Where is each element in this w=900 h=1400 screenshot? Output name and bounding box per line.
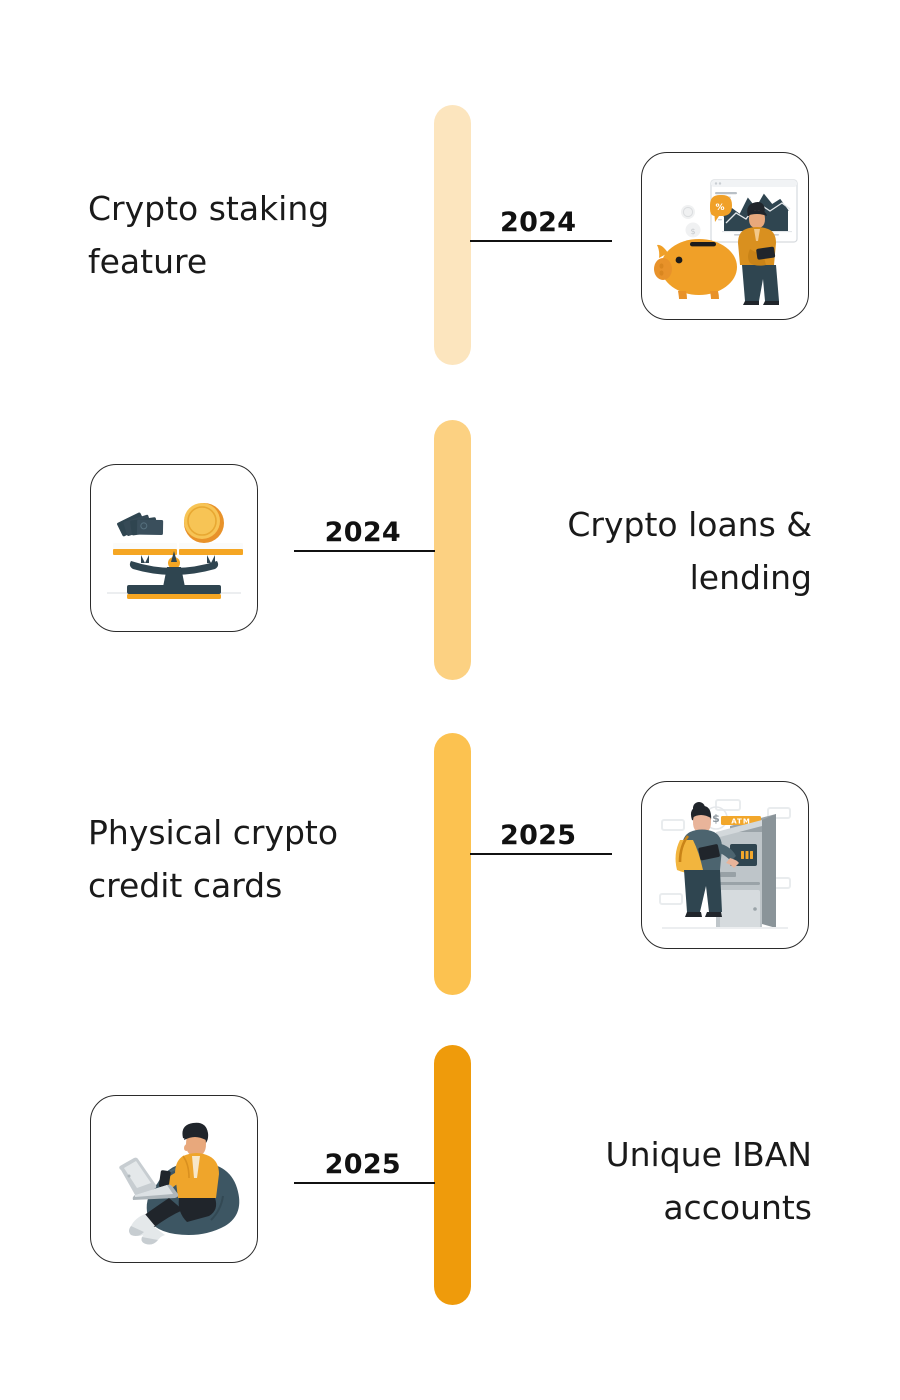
- year-label-4: 2025: [325, 1151, 401, 1178]
- year-rule-2: [294, 550, 435, 552]
- piggy-percent-glyph: %: [715, 203, 724, 213]
- year-rule-4: [294, 1182, 435, 1184]
- man-on-beanbag-with-laptop-icon: [91, 1096, 257, 1262]
- atm-dollar-glyph: $: [712, 812, 720, 825]
- balance-scale-cash-coin-icon: [91, 465, 257, 631]
- piggy-bank-investor-chart-icon: $ %: [642, 153, 808, 319]
- year-marker-3: 2025: [470, 795, 612, 855]
- milestone-caption-3: Physical crypto credit cards: [88, 806, 408, 913]
- year-marker-1: 2024: [470, 182, 612, 242]
- illustration-card-2: [90, 464, 258, 632]
- year-rule-3: [470, 853, 612, 855]
- milestone-caption-4: Unique IBAN accounts: [482, 1128, 812, 1235]
- year-label-2: 2024: [325, 519, 401, 546]
- illustration-card-1: $ %: [641, 152, 809, 320]
- year-label-1: 2024: [500, 209, 576, 236]
- timeline-bar-1: [434, 105, 471, 365]
- piggy-coin-dollar-glyph: $: [690, 227, 695, 236]
- illustration-card-4: [90, 1095, 258, 1263]
- year-label-3: 2025: [500, 822, 576, 849]
- milestone-caption-1: Crypto staking feature: [88, 182, 408, 289]
- illustration-card-3: $ ATM: [641, 781, 809, 949]
- timeline-bar-2: [434, 420, 471, 680]
- milestone-caption-2: Crypto loans & lending: [482, 498, 812, 605]
- timeline-canvas: 2024 2024 2025 2025 Crypto staking featu…: [0, 0, 900, 1400]
- year-rule-1: [470, 240, 612, 242]
- timeline-bar-4: [434, 1045, 471, 1305]
- woman-at-atm-icon: $ ATM: [642, 782, 808, 948]
- year-marker-4: 2025: [294, 1124, 435, 1184]
- timeline-bar-3: [434, 733, 471, 995]
- year-marker-2: 2024: [294, 492, 435, 552]
